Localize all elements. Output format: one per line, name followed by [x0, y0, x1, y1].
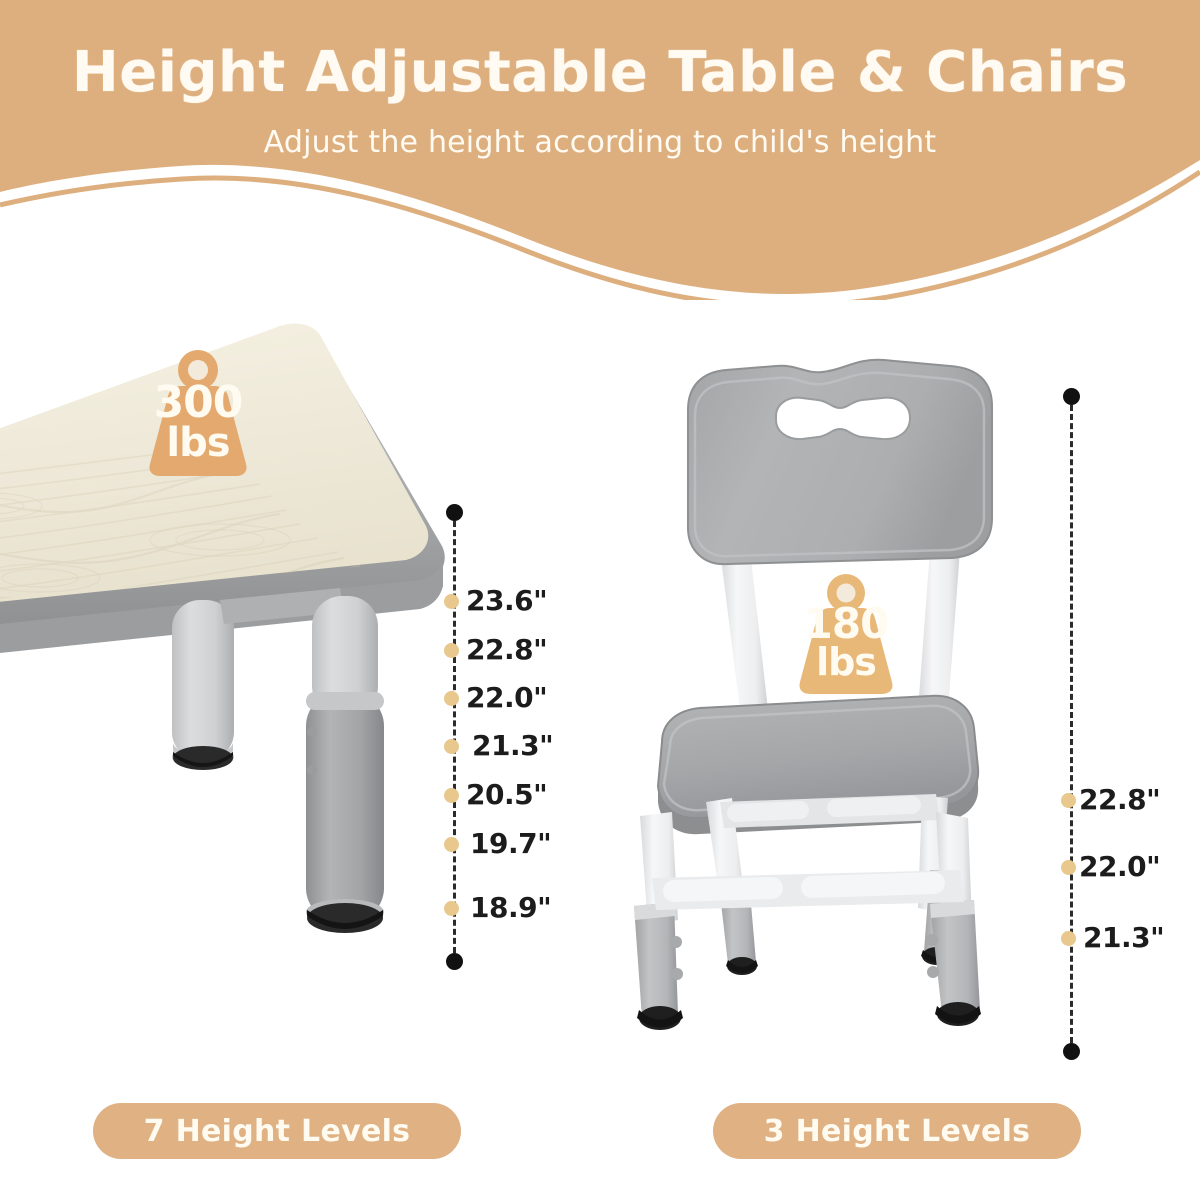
- ruler-tick-dot: [444, 643, 459, 658]
- ruler-tick-dot: [444, 594, 459, 609]
- table-height-levels-label: 7 Height Levels: [144, 1114, 411, 1149]
- weight-icon: [780, 572, 912, 698]
- ruler-tick-dot: [444, 837, 459, 852]
- ruler-tick-dot: [444, 788, 459, 803]
- ruler-tick-dot: [1061, 860, 1076, 875]
- header-banner: Height Adjustable Table & Chairs Adjust …: [0, 0, 1200, 300]
- ruler-tick-dot: [444, 901, 459, 916]
- ruler-dashed-line: [453, 512, 456, 962]
- weight-icon: [128, 348, 268, 480]
- ruler-tick-label: 23.6": [466, 584, 547, 617]
- page-subtitle: Adjust the height according to child's h…: [0, 125, 1200, 160]
- ruler-tick-dot: [444, 691, 459, 706]
- ruler-tick-label: 21.3": [1083, 921, 1164, 954]
- ruler-tick-label: 21.3": [472, 729, 553, 762]
- ruler-top-endpoint: [1063, 388, 1080, 405]
- table-leg-rear: [172, 600, 234, 770]
- ruler-tick-label: 22.8": [466, 633, 547, 666]
- ruler-tick-label: 20.5": [466, 778, 547, 811]
- chair-leg-front-left: [634, 812, 683, 1030]
- chair-height-levels-label: 3 Height Levels: [764, 1114, 1031, 1149]
- infographic-canvas: Height Adjustable Table & Chairs Adjust …: [0, 0, 1200, 1200]
- ruler-bottom-endpoint: [1063, 1043, 1080, 1060]
- ruler-tick-dot: [444, 739, 459, 754]
- chair-weight-capacity-badge: 180 lbs: [780, 572, 912, 698]
- ruler-tick-label: 18.9": [470, 891, 551, 924]
- ruler-dashed-line: [1070, 396, 1073, 1052]
- table-weight-capacity-badge: 300 lbs: [128, 348, 268, 480]
- chair-product-image: [600, 350, 1060, 1050]
- ruler-tick-label: 22.0": [1079, 850, 1160, 883]
- ruler-tick-dot: [1061, 931, 1076, 946]
- ruler-tick-label: 22.8": [1079, 783, 1160, 816]
- chair-backrest: [688, 360, 992, 564]
- ruler-tick-label: 19.7": [470, 827, 551, 860]
- page-title: Height Adjustable Table & Chairs: [0, 44, 1200, 103]
- ruler-bottom-endpoint: [446, 953, 463, 970]
- ruler-tick-dot: [1061, 793, 1076, 808]
- table-height-levels-pill: 7 Height Levels: [93, 1103, 461, 1159]
- chair-height-levels-pill: 3 Height Levels: [713, 1103, 1081, 1159]
- ruler-top-endpoint: [446, 504, 463, 521]
- ruler-tick-label: 22.0": [466, 681, 547, 714]
- table-leg-front: [306, 596, 384, 933]
